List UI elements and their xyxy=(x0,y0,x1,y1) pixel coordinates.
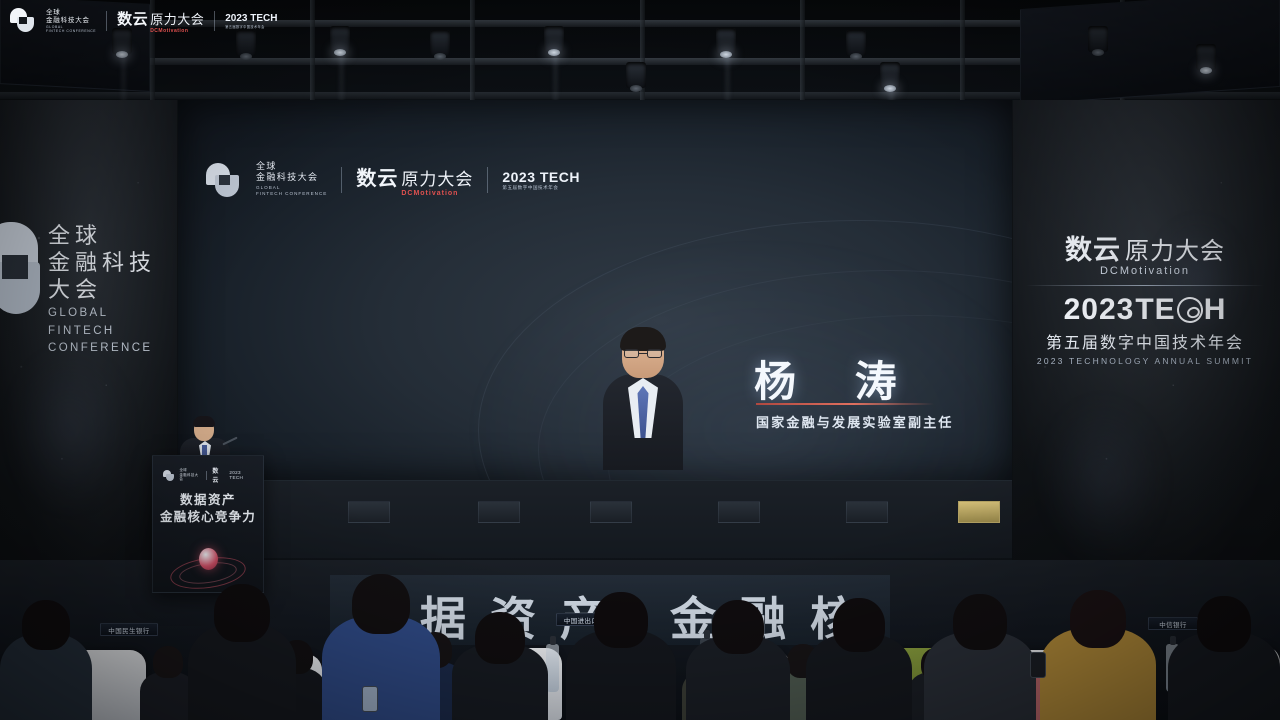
stage-light xyxy=(330,26,350,52)
podium-shuyun: 数云 xyxy=(212,466,224,484)
divider xyxy=(487,167,488,193)
divider xyxy=(1026,285,1264,286)
stage-light xyxy=(626,62,646,88)
left-wall-en-line2: FINTECH CONFERENCE xyxy=(48,323,178,356)
left-wall-en-line1: GLOBAL xyxy=(48,305,178,322)
conference-stage-scene: 全球 金融科技大会 GLOBAL FINTECH CONFERENCE 数云 原… xyxy=(0,0,1280,720)
stage-light xyxy=(430,30,450,56)
stage-light xyxy=(544,26,564,52)
stage-light xyxy=(716,28,736,54)
watermark-en-line2: FINTECH CONFERENCE xyxy=(46,29,96,34)
podium-logo-bar: 全球 金融科技大会 数云 2023 TECH xyxy=(163,466,255,484)
glasses-icon xyxy=(624,349,662,359)
smartphone xyxy=(1030,652,1046,678)
divider xyxy=(756,403,934,405)
right-wall-tech-right: H xyxy=(1204,293,1227,327)
divider xyxy=(206,471,207,480)
right-wall-tech-left: TE xyxy=(1135,293,1175,327)
fintech-logo-icon xyxy=(206,163,242,197)
at-swirl-icon xyxy=(1173,294,1206,327)
speaker-portrait xyxy=(603,330,683,470)
podium-logo-cn-line2: 金融科技大会 xyxy=(180,473,202,482)
divider xyxy=(341,167,342,193)
smartphone xyxy=(362,686,378,712)
audience-member xyxy=(686,600,790,720)
led-year-subtitle: 第五届数字中国技术年会 xyxy=(502,185,580,191)
watermark-year: 2023 TECH xyxy=(225,13,277,24)
fintech-logo-icon xyxy=(163,470,175,481)
led-yuanli: 原力大会 xyxy=(401,165,473,190)
led-shuyun: 数云 xyxy=(356,162,398,191)
watermark-shuyun: 数云 xyxy=(117,8,148,29)
led-speaker-title: 国家金融与发展实验室副主任 xyxy=(756,412,954,431)
right-wall-shuyun: 数云 xyxy=(1065,228,1121,267)
audience-member xyxy=(1168,596,1280,720)
audience-member xyxy=(452,612,548,720)
audience-member xyxy=(1040,590,1156,720)
watermark-year-subtitle: 第五届数字中国技术年会 xyxy=(225,24,277,29)
audience-member xyxy=(322,574,440,720)
watermark-cn-line2: 金融科技大会 xyxy=(46,16,96,24)
right-wall-dcmotivation: DCMotivation xyxy=(1020,265,1270,277)
audience-member xyxy=(924,594,1036,720)
main-led-screen: 全球 金融科技大会 GLOBAL FINTECH CONFERENCE 数云 原… xyxy=(178,100,1012,480)
led-year: 2023 TECH xyxy=(502,169,580,185)
led-logo-cn-line2: 金融科技大会 xyxy=(256,173,327,184)
audience-member xyxy=(188,584,296,720)
stage-light xyxy=(880,62,900,88)
right-wall-yuanli: 原力大会 xyxy=(1125,231,1225,266)
led-speaker-name: 杨 涛 xyxy=(754,348,919,409)
led-dcmotivation: DCMotivation xyxy=(401,190,473,197)
broadcast-watermark: 全球 金融科技大会 GLOBAL FINTECH CONFERENCE 数云 原… xyxy=(10,6,277,36)
watermark-cn-line1: 全球 xyxy=(46,8,96,16)
audience-member xyxy=(0,600,92,720)
left-wall-cn-line1: 全球 xyxy=(48,224,178,251)
audience-member xyxy=(806,598,912,720)
led-logo-cn-line1: 全球 xyxy=(256,162,327,173)
podium-year: 2023 TECH xyxy=(229,470,255,480)
led-screen-logo-bar: 全球 金融科技大会 GLOBAL FINTECH CONFERENCE 数云 原… xyxy=(206,162,580,197)
stage-light xyxy=(1196,44,1216,70)
right-wall-en-subtitle: 2023 TECHNOLOGY ANNUAL SUMMIT xyxy=(1020,356,1270,366)
right-wall-cn-subtitle: 第五届数字中国技术年会 xyxy=(1020,329,1270,353)
right-wall-branding: 数云 原力大会 DCMotivation 2023 TE H 第五届数字中国技术… xyxy=(1020,228,1270,366)
fintech-logo-icon xyxy=(10,8,36,34)
watermark-yuanli: 原力大会 xyxy=(150,9,204,28)
led-logo-en-line2: FINTECH CONFERENCE xyxy=(256,191,327,197)
left-wall-cn-line2: 金融科技大会 xyxy=(48,251,178,305)
audience-member xyxy=(566,592,676,720)
fintech-logo-icon xyxy=(0,222,42,314)
divider xyxy=(106,11,107,31)
seat-label: 中国民生银行 xyxy=(100,623,158,636)
watermark-dcmotivation: DCMotivation xyxy=(150,28,204,34)
divider xyxy=(214,11,215,31)
right-wall-year: 2023 xyxy=(1064,293,1135,327)
stage-light xyxy=(846,30,866,56)
audience-seating: 中国民生银行 中国进出口银行 中信银行 xyxy=(0,505,1280,720)
stage-light xyxy=(1088,26,1108,52)
right-wall: 数云 原力大会 DCMotivation 2023 TE H 第五届数字中国技术… xyxy=(1012,100,1280,560)
